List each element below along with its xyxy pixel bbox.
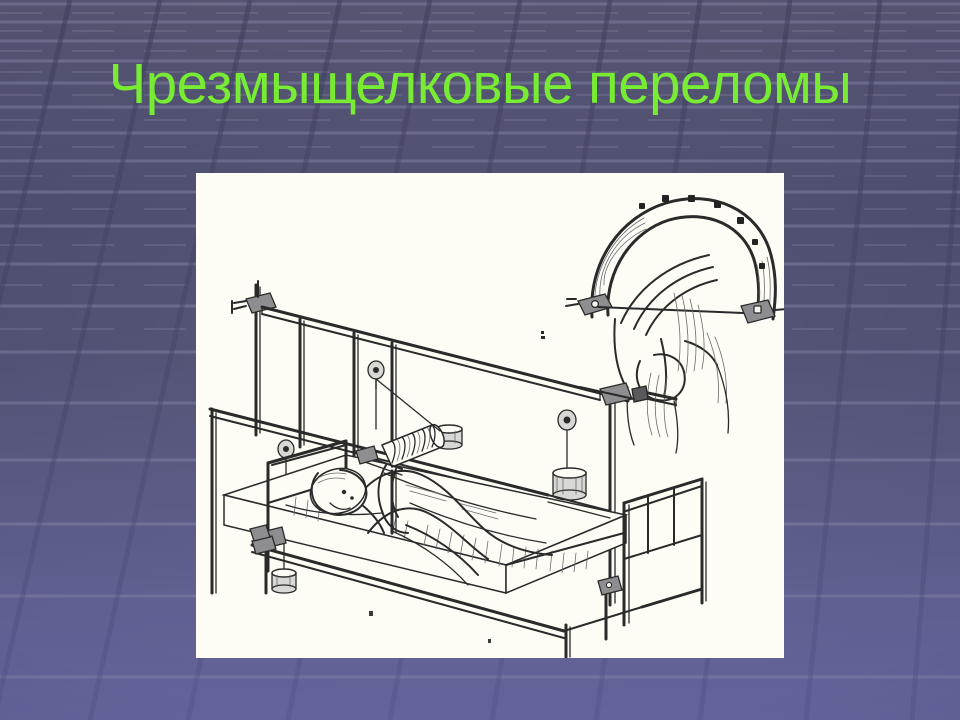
illustration-skeletal-traction [196, 173, 784, 658]
weight-right [553, 468, 586, 500]
presentation-slide: Чрезмыщелковые переломы [0, 0, 960, 720]
page-title: Чрезмыщелковые переломы [5, 52, 955, 116]
